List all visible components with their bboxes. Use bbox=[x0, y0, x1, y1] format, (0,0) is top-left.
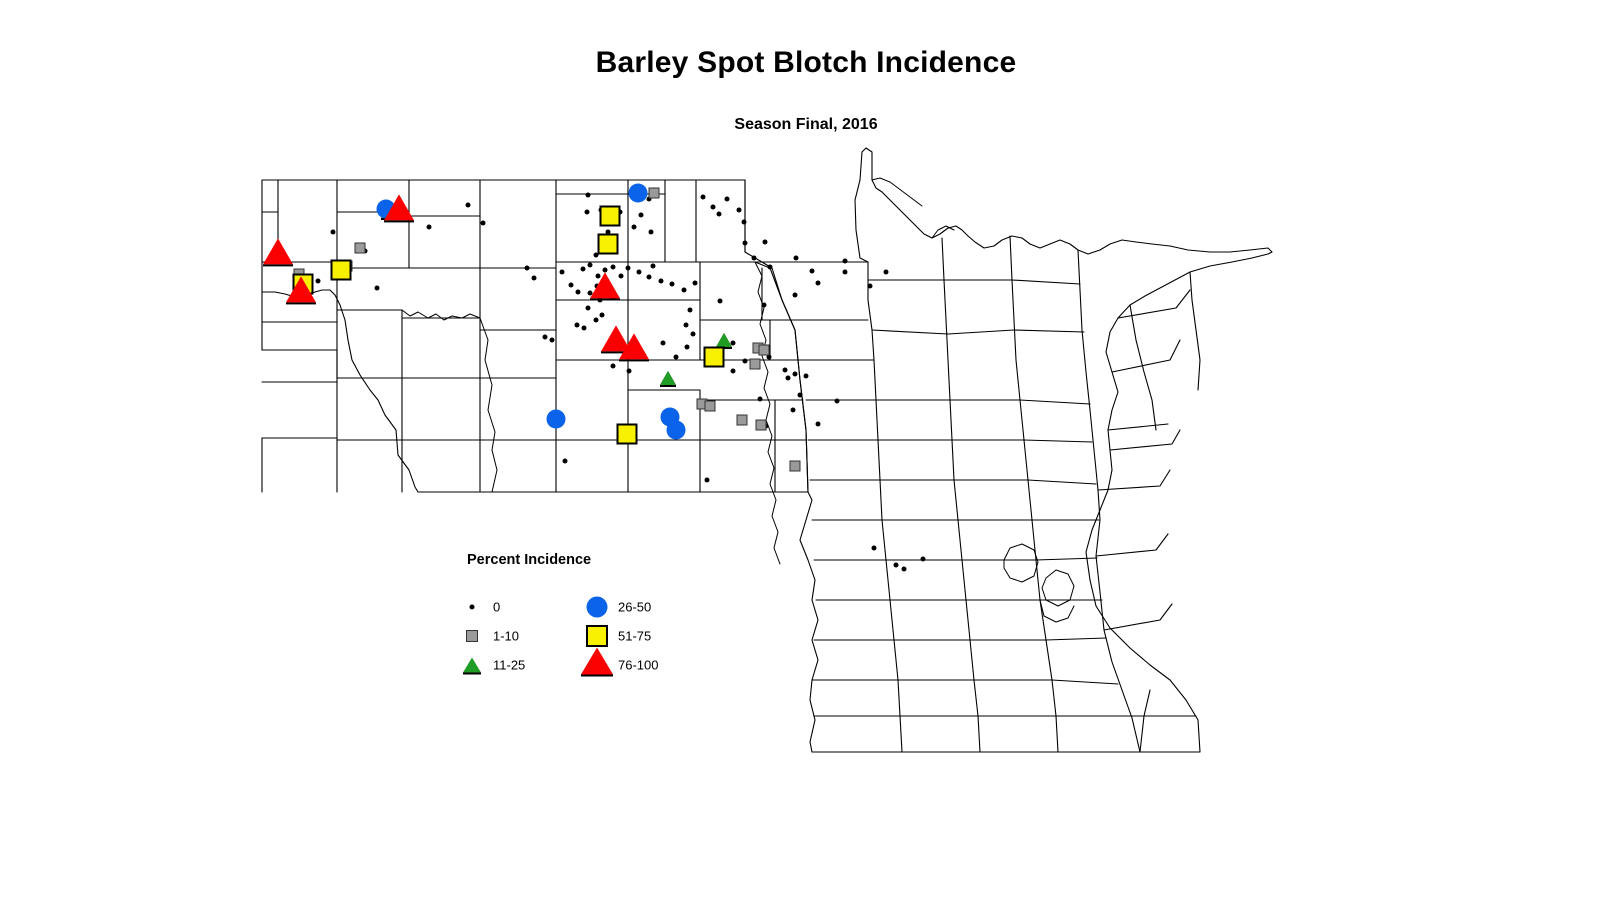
marker-zero bbox=[585, 210, 590, 215]
marker-zero bbox=[375, 286, 380, 291]
marker-zero bbox=[543, 335, 548, 340]
marker-zero bbox=[717, 212, 722, 217]
marker-zero bbox=[758, 397, 763, 402]
marker-zero bbox=[637, 270, 642, 275]
marker-zero bbox=[691, 332, 696, 337]
marker-zero bbox=[685, 345, 690, 350]
marker-zero bbox=[718, 299, 723, 304]
marker-zero bbox=[868, 284, 873, 289]
marker-zero bbox=[843, 270, 848, 275]
marker-zero bbox=[586, 193, 591, 198]
marker-zero bbox=[632, 225, 637, 230]
marker-26-50 bbox=[629, 184, 648, 203]
marker-zero bbox=[682, 288, 687, 293]
marker-zero bbox=[639, 213, 644, 218]
marker-zero bbox=[884, 270, 889, 275]
marker-zero bbox=[711, 205, 716, 210]
marker-51-75 bbox=[600, 206, 621, 227]
marker-zero bbox=[661, 341, 666, 346]
marker-76-100 bbox=[590, 272, 620, 298]
marker-zero bbox=[902, 567, 907, 572]
legend-symbol-small-black-dot-icon bbox=[455, 594, 489, 620]
marker-zero bbox=[768, 265, 773, 270]
legend-symbol-blue-circle-icon bbox=[580, 594, 614, 620]
marker-zero bbox=[742, 220, 747, 225]
marker-76-100 bbox=[263, 238, 293, 264]
marker-1-10 bbox=[705, 401, 716, 412]
marker-11-25 bbox=[716, 333, 732, 347]
marker-zero bbox=[793, 372, 798, 377]
marker-zero bbox=[843, 259, 848, 264]
legend-label: 1-10 bbox=[493, 629, 519, 644]
marker-zero bbox=[525, 266, 530, 271]
marker-zero bbox=[688, 308, 693, 313]
marker-zero bbox=[611, 265, 616, 270]
marker-zero bbox=[762, 303, 767, 308]
legend-label: 11-25 bbox=[493, 658, 525, 673]
legend-symbol-yellow-square-icon bbox=[580, 623, 614, 649]
marker-zero bbox=[725, 197, 730, 202]
legend-title: Percent Incidence bbox=[467, 552, 591, 568]
marker-zero bbox=[763, 240, 768, 245]
marker-zero bbox=[810, 269, 815, 274]
marker-zero bbox=[674, 355, 679, 360]
marker-zero bbox=[627, 369, 632, 374]
marker-1-10 bbox=[759, 345, 770, 356]
marker-zero bbox=[331, 230, 336, 235]
marker-1-10 bbox=[756, 420, 767, 431]
legend: Percent Incidence 01-1011-2526-5051-7576… bbox=[455, 552, 715, 687]
marker-1-10 bbox=[750, 359, 761, 370]
marker-zero bbox=[611, 364, 616, 369]
marker-zero bbox=[563, 459, 568, 464]
marker-zero bbox=[693, 281, 698, 286]
legend-label: 0 bbox=[493, 600, 500, 615]
marker-76-100 bbox=[619, 333, 649, 359]
marker-zero bbox=[684, 323, 689, 328]
marker-zero bbox=[569, 283, 574, 288]
minnesota-counties bbox=[755, 148, 1272, 752]
marker-zero bbox=[793, 293, 798, 298]
marker-26-50 bbox=[547, 410, 566, 429]
marker-zero bbox=[743, 241, 748, 246]
marker-zero bbox=[581, 267, 586, 272]
marker-76-100 bbox=[286, 276, 316, 302]
marker-zero bbox=[560, 270, 565, 275]
map-page: Barley Spot Blotch Incidence Season Fina… bbox=[0, 0, 1612, 900]
marker-zero bbox=[791, 408, 796, 413]
legend-symbol-gray-square-icon bbox=[455, 623, 489, 649]
northern-lakes-detail bbox=[872, 178, 954, 238]
marker-zero bbox=[737, 208, 742, 213]
marker-zero bbox=[794, 256, 799, 261]
marker-zero bbox=[670, 282, 675, 287]
marker-zero bbox=[575, 323, 580, 328]
marker-zero bbox=[316, 279, 321, 284]
marker-zero bbox=[752, 256, 757, 261]
legend-symbol-red-triangle-icon bbox=[580, 652, 614, 678]
marker-51-75 bbox=[704, 347, 725, 368]
marker-51-75 bbox=[331, 260, 352, 281]
marker-zero bbox=[659, 279, 664, 284]
marker-zero bbox=[786, 376, 791, 381]
marker-26-50 bbox=[667, 421, 686, 440]
marker-1-10 bbox=[355, 243, 366, 254]
marker-zero bbox=[816, 281, 821, 286]
marker-zero bbox=[835, 399, 840, 404]
marker-1-10 bbox=[790, 461, 801, 472]
marker-zero bbox=[532, 276, 537, 281]
marker-zero bbox=[427, 225, 432, 230]
marker-11-25 bbox=[660, 371, 676, 385]
marker-zero bbox=[649, 230, 654, 235]
marker-zero bbox=[798, 393, 803, 398]
marker-zero bbox=[705, 478, 710, 483]
marker-51-75 bbox=[617, 424, 638, 445]
marker-76-100 bbox=[384, 194, 414, 220]
legend-label: 26-50 bbox=[618, 600, 651, 615]
marker-zero bbox=[466, 203, 471, 208]
marker-51-75 bbox=[598, 234, 619, 255]
marker-zero bbox=[894, 563, 899, 568]
marker-zero bbox=[743, 359, 748, 364]
marker-zero bbox=[651, 264, 656, 269]
legend-symbol-green-triangle-icon bbox=[455, 652, 489, 678]
map-canvas bbox=[0, 0, 1612, 900]
marker-zero bbox=[783, 368, 788, 373]
marker-zero bbox=[731, 369, 736, 374]
marker-zero bbox=[804, 374, 809, 379]
marker-zero bbox=[582, 326, 587, 331]
marker-zero bbox=[588, 263, 593, 268]
marker-zero bbox=[921, 557, 926, 562]
marker-1-10 bbox=[737, 415, 748, 426]
marker-zero bbox=[872, 546, 877, 551]
marker-zero bbox=[701, 195, 706, 200]
marker-zero bbox=[816, 422, 821, 427]
marker-zero bbox=[600, 313, 605, 318]
county-boundaries-layer bbox=[0, 0, 1612, 900]
marker-zero bbox=[576, 290, 581, 295]
legend-label: 51-75 bbox=[618, 629, 651, 644]
marker-zero bbox=[647, 275, 652, 280]
marker-zero bbox=[481, 221, 486, 226]
marker-zero bbox=[550, 338, 555, 343]
legend-label: 76-100 bbox=[618, 658, 658, 673]
marker-zero bbox=[626, 266, 631, 271]
marker-1-10 bbox=[649, 188, 660, 199]
marker-zero bbox=[586, 306, 591, 311]
marker-zero bbox=[594, 318, 599, 323]
